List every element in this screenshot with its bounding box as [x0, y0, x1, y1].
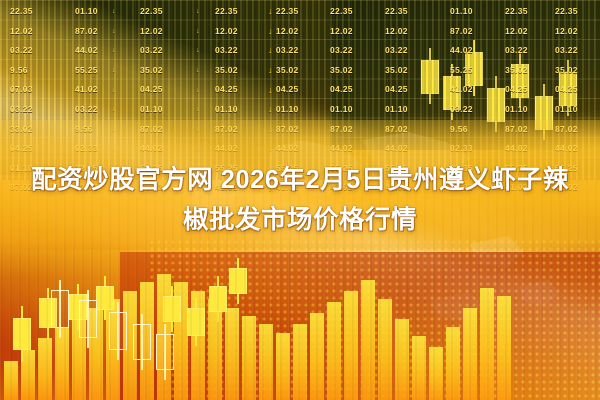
arrow-down-icon: ↓ — [268, 105, 273, 114]
quote-value: 35.02 — [330, 61, 353, 81]
quote-row: 9.56 — [10, 61, 33, 81]
quote-value: 35.02 — [505, 61, 528, 81]
quote-row: 35.02 — [330, 61, 353, 81]
quote-row: 03.22 — [10, 100, 33, 120]
quote-value: 01.10 — [505, 100, 528, 120]
quote-value: 12.02 — [330, 22, 353, 42]
quote-row: 35.02 — [385, 61, 408, 81]
quote-row: ↓ — [112, 100, 116, 120]
quote-value: 03.22 — [555, 41, 578, 61]
quote-row: ↓ — [196, 100, 200, 120]
quote-row: ↓ — [196, 2, 200, 22]
quote-value: 35.02 — [276, 61, 299, 81]
quote-row: 01.10 — [330, 100, 353, 120]
quote-value: 03.22 — [140, 41, 163, 61]
arrow-down-icon: ↓ — [112, 28, 116, 35]
quote-value: 41.02 — [450, 80, 473, 100]
quote-row: 03.22 — [75, 100, 98, 120]
quote-row: 35.02 — [555, 61, 578, 81]
quote-value: 01.10 — [140, 100, 163, 120]
quote-row: ↓01.10 — [268, 100, 299, 120]
quote-value: 03.22 — [385, 41, 408, 61]
quote-row: 55.25 — [450, 61, 473, 81]
quote-value: 04.25 — [276, 80, 299, 100]
quote-row: 01.10 — [450, 2, 473, 22]
arrow-down-icon: ↓ — [112, 67, 116, 74]
quote-value: 44.02 — [75, 41, 98, 61]
quote-value: 04.25 — [505, 80, 528, 100]
quote-row: ↓ — [112, 2, 116, 22]
quote-row: ↓04.25 — [268, 80, 299, 100]
quote-value: 04.25 — [140, 80, 163, 100]
quote-row: 01.10 — [140, 100, 163, 120]
quote-row: ↓22.35 — [268, 2, 299, 22]
quote-value: 03.22 — [450, 100, 473, 120]
quote-value: 01.10 — [555, 100, 578, 120]
quote-row: 35.02 — [140, 61, 163, 81]
quote-row: ↓ — [112, 80, 116, 100]
quote-value: 12.02 — [385, 22, 408, 42]
arrow-down-icon: ↓ — [268, 27, 273, 36]
quote-row: 03.22 — [505, 41, 528, 61]
quote-row: 22.35 — [215, 2, 238, 22]
quote-value: 01.10 — [450, 2, 473, 22]
quote-row: 22.35 — [140, 2, 163, 22]
quote-row: 44.02 — [75, 41, 98, 61]
quote-value: 35.02 — [385, 61, 408, 81]
quote-value: 22.35 — [10, 2, 33, 22]
quote-row: 12.02 — [555, 22, 578, 42]
quote-value: 01.10 — [385, 100, 408, 120]
quote-row: 03.22 — [330, 41, 353, 61]
quote-row: 04.25 — [555, 80, 578, 100]
quote-row: 87.02 — [75, 22, 98, 42]
quote-value: 41.02 — [75, 80, 98, 100]
quote-row: 12.02 — [330, 22, 353, 42]
quote-value: 03.22 — [75, 100, 98, 120]
quote-value: 01.10 — [215, 100, 238, 120]
quote-row: 22.35 — [330, 2, 353, 22]
quote-row: 04.25 — [330, 80, 353, 100]
quote-row: ↓ — [112, 61, 116, 81]
quote-row: 35.02 — [215, 61, 238, 81]
quote-value: 04.25 — [330, 80, 353, 100]
quote-value: 01.10 — [75, 2, 98, 22]
arrow-down-icon: ↓ — [112, 87, 116, 94]
quote-row: 41.02 — [450, 80, 473, 100]
arrow-down-icon: ↓ — [196, 106, 200, 113]
quote-row: 01.10 — [505, 100, 528, 120]
quote-value: 35.02 — [555, 61, 578, 81]
quote-value: 87.02 — [450, 22, 473, 42]
quote-row: 01.10 — [385, 100, 408, 120]
quote-row: 22.35 — [555, 2, 578, 22]
quote-value: 22.35 — [555, 2, 578, 22]
quote-row: 03.22 — [450, 100, 473, 120]
quote-value: 04.25 — [215, 80, 238, 100]
quote-value: 12.02 — [140, 22, 163, 42]
quote-row: 04.25 — [505, 80, 528, 100]
quote-row: 12.02 — [385, 22, 408, 42]
quote-row: 87.02 — [450, 22, 473, 42]
quote-row: ↓12.02 — [268, 22, 299, 42]
quote-row: ↓03.22 — [268, 41, 299, 61]
quote-row: ↓ — [196, 22, 200, 42]
quote-row: 55.25 — [75, 61, 98, 81]
quote-value: 04.25 — [555, 80, 578, 100]
quote-value: 01.10 — [276, 100, 299, 120]
arrow-down-icon: ↓ — [268, 7, 273, 16]
arrow-down-icon: ↓ — [268, 86, 273, 95]
title-line-2: 椒批发市场价格行情 — [0, 200, 600, 240]
quote-value: 35.02 — [140, 61, 163, 81]
quote-value: 12.02 — [505, 22, 528, 42]
quote-value: 12.02 — [10, 22, 33, 42]
arrow-down-icon: ↓ — [112, 106, 116, 113]
quote-value: 22.35 — [276, 2, 299, 22]
quote-value: 12.02 — [276, 22, 299, 42]
quote-value: 35.02 — [215, 61, 238, 81]
quote-value: 01.10 — [330, 100, 353, 120]
arrow-down-icon: ↓ — [196, 8, 200, 15]
quote-value: 03.22 — [505, 41, 528, 61]
quote-row: 03.22 — [10, 41, 33, 61]
quote-row: ↓ — [196, 41, 200, 61]
quote-row: 03.22 — [215, 41, 238, 61]
quote-row: 03.22 — [555, 41, 578, 61]
banner-image: 22.3512.0203.229.5607.0303.2233.0204.250… — [0, 0, 600, 400]
quote-value: 03.22 — [10, 100, 33, 120]
quote-row: 04.25 — [385, 80, 408, 100]
quote-row: ↓ — [196, 61, 200, 81]
arrow-down-icon: ↓ — [112, 47, 116, 54]
arrow-down-icon: ↓ — [196, 87, 200, 94]
quote-value: 22.35 — [505, 2, 528, 22]
quote-row: 44.02 — [450, 41, 473, 61]
quote-value: 55.25 — [75, 61, 98, 81]
arrow-down-icon: ↓ — [196, 47, 200, 54]
quote-row: 01.10 — [215, 100, 238, 120]
quote-row: 12.02 — [10, 22, 33, 42]
quote-row: 12.02 — [215, 22, 238, 42]
quote-row: 01.10 — [555, 100, 578, 120]
quote-value: 22.35 — [385, 2, 408, 22]
quote-row: ↓ — [112, 22, 116, 42]
quote-value: 03.22 — [10, 41, 33, 61]
quote-value: 44.02 — [450, 41, 473, 61]
quote-value: 12.02 — [555, 22, 578, 42]
quote-row: 35.02 — [505, 61, 528, 81]
banner-title: 配资炒股官方网 2026年2月5日贵州遵义虾子辣 椒批发市场价格行情 — [0, 160, 600, 240]
arrow-down-icon: ↓ — [196, 67, 200, 74]
arrow-down-icon: ↓ — [112, 8, 116, 15]
quote-row: 22.35 — [10, 2, 33, 22]
quote-value: 9.56 — [10, 61, 28, 81]
arrow-down-icon: ↓ — [268, 66, 273, 75]
quote-row: ↓35.02 — [268, 61, 299, 81]
quote-row: 01.10 — [75, 2, 98, 22]
quote-row: 22.35 — [505, 2, 528, 22]
quote-value: 12.02 — [215, 22, 238, 42]
arrow-down-icon: ↓ — [268, 46, 273, 55]
quote-row: ↓ — [196, 80, 200, 100]
quote-row: 12.02 — [140, 22, 163, 42]
quote-row: 03.22 — [385, 41, 408, 61]
title-line-1: 配资炒股官方网 2026年2月5日贵州遵义虾子辣 — [0, 160, 600, 200]
quote-value: 03.22 — [276, 41, 299, 61]
quote-row: ↓ — [112, 41, 116, 61]
quote-value: 22.35 — [215, 2, 238, 22]
quote-value: 07.03 — [10, 80, 33, 100]
quote-row: 41.02 — [75, 80, 98, 100]
quote-value: 03.22 — [330, 41, 353, 61]
quote-value: 22.35 — [140, 2, 163, 22]
quote-value: 03.22 — [215, 41, 238, 61]
quote-value: 55.25 — [450, 61, 473, 81]
quote-row: 04.25 — [140, 80, 163, 100]
arrow-down-icon: ↓ — [196, 28, 200, 35]
quote-row: 03.22 — [140, 41, 163, 61]
quote-row: 04.25 — [215, 80, 238, 100]
quote-value: 87.02 — [75, 22, 98, 42]
quote-row: 07.03 — [10, 80, 33, 100]
quote-value: 22.35 — [330, 2, 353, 22]
quote-row: 12.02 — [505, 22, 528, 42]
quote-value: 04.25 — [385, 80, 408, 100]
quote-row: 22.35 — [385, 2, 408, 22]
